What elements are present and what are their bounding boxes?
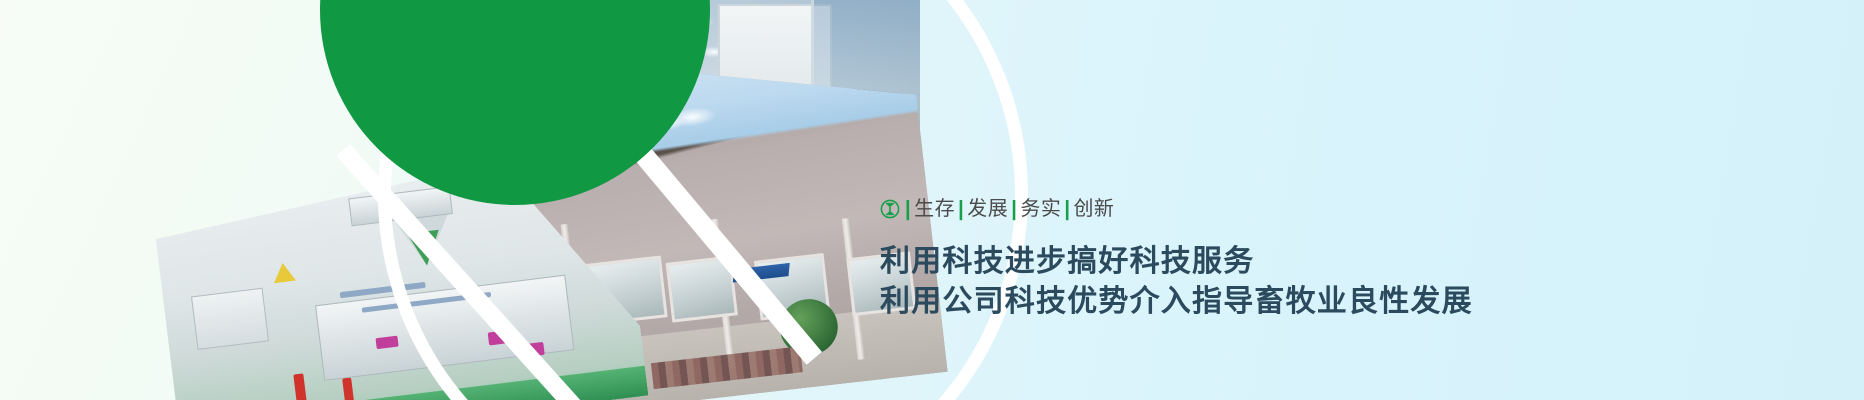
headline-line-1: 利用科技进步搞好科技服务: [880, 242, 1720, 282]
tagline-separator: |: [904, 199, 912, 220]
person-circle-icon: [880, 199, 900, 219]
machine-red-hose: [293, 373, 308, 400]
tagline-word-1: 发展: [965, 199, 1010, 219]
tagline-separator: |: [1010, 199, 1018, 220]
tagline-word-2: 务实: [1018, 199, 1063, 219]
image-collage: ®: [320, 0, 890, 400]
tagline-word-0: 生存: [912, 199, 957, 219]
tagline: | 生存 | 发展 | 务实 | 创新: [880, 196, 1720, 222]
banner-copy: | 生存 | 发展 | 务实 | 创新 利用科技进步搞好科技服务 利用公司科技优…: [880, 196, 1720, 322]
hero-banner: ® | 生存 | 发展 | 务实 | 创新: [0, 0, 1864, 400]
machine-control-panel: [191, 288, 269, 350]
tagline-separator: |: [957, 199, 965, 220]
tagline-words: | 生存 | 发展 | 务实 | 创新: [904, 199, 1116, 219]
machine-red-hose: [342, 378, 355, 400]
tagline-separator: |: [1063, 199, 1071, 220]
warning-triangle-icon: [272, 262, 296, 284]
headline-line-2: 利用公司科技优势介入指导畜牧业良性发展: [880, 282, 1720, 322]
tagline-word-3: 创新: [1071, 199, 1116, 219]
